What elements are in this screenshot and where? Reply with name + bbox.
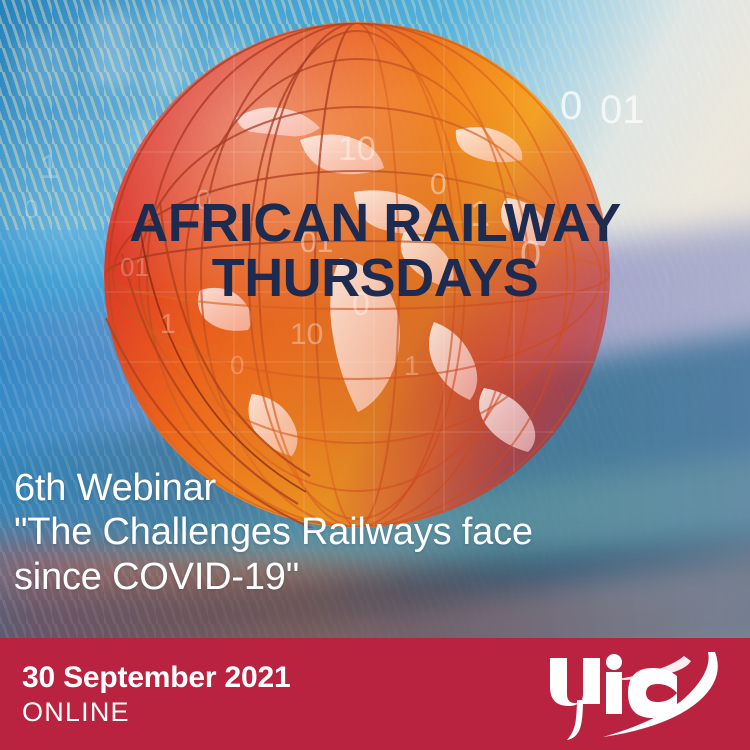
poster-canvas: 0 01 10 0 1 01 0 0 10 1 1 0 0 01 1 0 AFR… — [0, 0, 750, 750]
event-mode: ONLINE — [22, 696, 290, 728]
event-details: 30 September 2021 ONLINE — [22, 660, 290, 728]
webinar-number: 6th Webinar — [14, 466, 704, 510]
page-title-line-2: THURSDAYS — [0, 251, 750, 306]
webinar-subtitle: 6th Webinar "The Challenges Railways fac… — [14, 466, 704, 599]
event-date: 30 September 2021 — [22, 660, 290, 695]
webinar-theme-line-1: "The Challenges Railways face — [14, 510, 704, 554]
page-title-line-1: AFRICAN RAILWAY — [129, 193, 621, 253]
footer-bar: 30 September 2021 ONLINE — [0, 638, 750, 750]
uic-logo-icon — [544, 648, 722, 740]
page-title: AFRICAN RAILWAY THURSDAYS — [0, 196, 750, 306]
webinar-theme-line-2: since COVID-19" — [14, 555, 704, 599]
